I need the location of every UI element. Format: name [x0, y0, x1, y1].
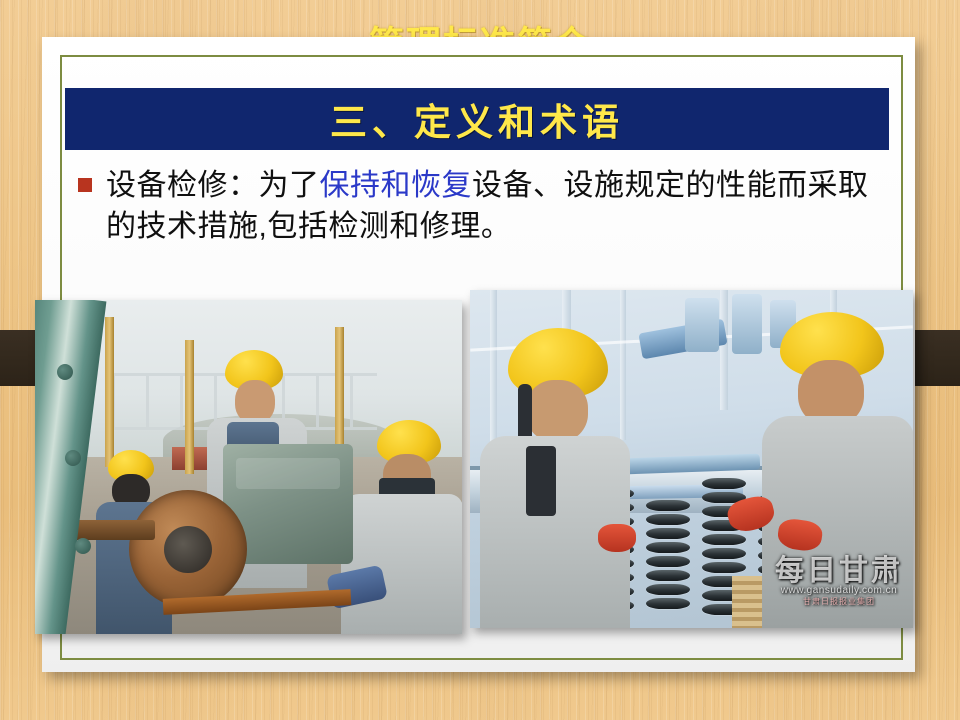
worker-strap [526, 446, 556, 516]
section-banner: 三、定义和术语 [65, 88, 889, 150]
insulator-stack-3 [646, 500, 690, 628]
section-heading: 三、定义和术语 [330, 92, 624, 146]
beam-bolt-2 [65, 450, 81, 466]
photo-left-worker-c [335, 420, 462, 634]
bullet-segment-highlight: 保持和恢复 [320, 169, 473, 202]
photo-left-pole-1 [105, 317, 114, 467]
hanging-device-2 [685, 298, 719, 352]
worker-body [341, 494, 462, 634]
photo-left [35, 300, 462, 634]
worker-headset [518, 384, 532, 442]
frame-column-4 [720, 290, 728, 410]
bullet-item: 设备检修：为了保持和恢复设备、设施规定的性能而采取的技术措施,包括检测和修理。 [78, 165, 887, 248]
hanging-device-3 [732, 294, 762, 354]
bullet-segment-1: 设备检修：为了 [106, 169, 320, 202]
beam-bolt-1 [57, 364, 73, 380]
photo-left-drum [129, 490, 247, 608]
beam-bolt-3 [75, 538, 91, 554]
photo-right-worker-right [762, 312, 913, 628]
bullet-paragraph: 设备检修：为了保持和恢复设备、设施规定的性能而采取的技术措施,包括检测和修理。 [106, 165, 887, 248]
photo-right-worker-left [480, 328, 630, 628]
worker-head [526, 380, 588, 442]
bullet-square-icon [78, 178, 92, 192]
slide-root: 管理标准简介 三、定义和术语 设备检修：为了保持和恢复设备、设施规定的性能而采取… [0, 0, 960, 720]
photo-left-pole-2 [185, 340, 194, 474]
photo-right: 每日甘肃 www.gansudaily.com.cn 甘肃日报报业集团 [470, 290, 913, 628]
worker-glove [598, 524, 636, 552]
